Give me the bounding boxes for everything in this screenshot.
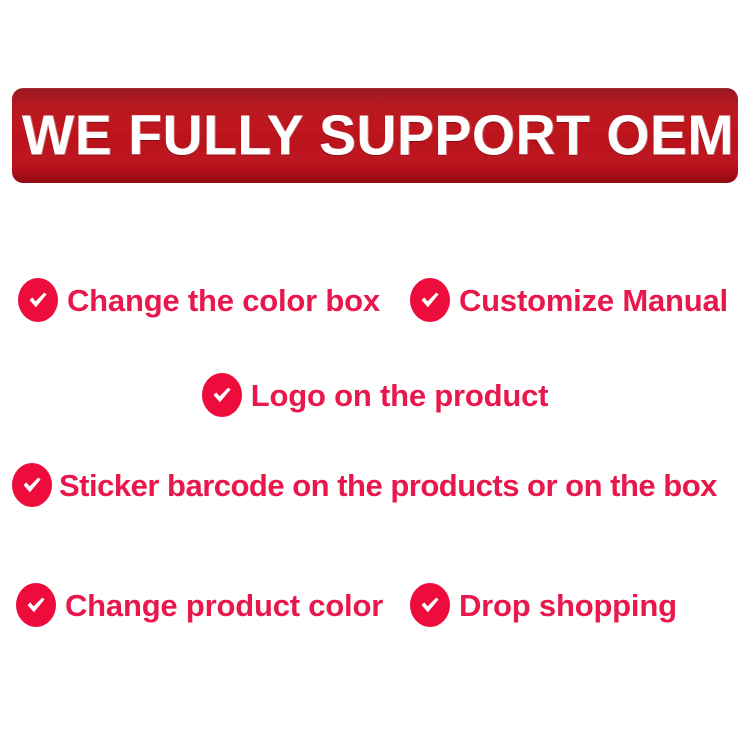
- check-circle-icon: [202, 373, 242, 417]
- feature-item-change-product-color: Change product color: [16, 583, 410, 627]
- feature-row: Change product color Drop shopping: [0, 583, 750, 627]
- feature-label: Change the color box: [67, 285, 380, 316]
- feature-list: Change the color box Customize Manual Lo…: [0, 183, 750, 750]
- feature-row: Sticker barcode on the products or on th…: [0, 463, 750, 507]
- feature-row: Logo on the product: [0, 373, 750, 417]
- feature-item-logo-on-the-product: Logo on the product: [202, 373, 549, 417]
- check-circle-icon: [16, 583, 56, 627]
- feature-item-sticker-barcode: Sticker barcode on the products or on th…: [12, 463, 717, 507]
- feature-label: Logo on the product: [251, 380, 549, 411]
- banner-title: WE FULLY SUPPORT OEM: [22, 107, 728, 164]
- feature-row: Change the color box Customize Manual: [0, 278, 750, 322]
- check-circle-icon: [410, 278, 450, 322]
- feature-item-drop-shopping: Drop shopping: [410, 583, 677, 627]
- feature-item-change-the-color-box: Change the color box: [18, 278, 410, 322]
- feature-label: Drop shopping: [459, 590, 677, 621]
- check-circle-icon: [12, 463, 52, 507]
- oem-support-banner: WE FULLY SUPPORT OEM: [12, 88, 738, 183]
- feature-label: Customize Manual: [459, 285, 728, 316]
- feature-item-customize-manual: Customize Manual: [410, 278, 728, 322]
- feature-label: Change product color: [65, 590, 383, 621]
- check-circle-icon: [18, 278, 58, 322]
- check-circle-icon: [410, 583, 450, 627]
- feature-label: Sticker barcode on the products or on th…: [59, 470, 717, 501]
